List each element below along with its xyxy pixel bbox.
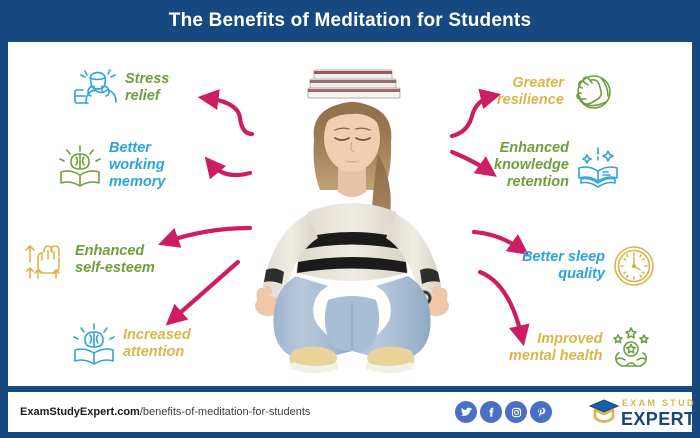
benefit-improved-mental-health[interactable]: Improved mental health bbox=[509, 326, 653, 370]
benefit-label: Better sleep quality bbox=[522, 249, 605, 283]
stressed-person-laptop-icon bbox=[74, 66, 118, 110]
facebook-icon[interactable] bbox=[480, 401, 502, 423]
sneaker-left bbox=[289, 346, 338, 373]
footer-url-path: /benefits-of-meditation-for-students bbox=[140, 406, 311, 418]
twitter-icon[interactable] bbox=[455, 401, 477, 423]
hand-gripping-ball-icon bbox=[571, 70, 615, 114]
books-stack bbox=[308, 70, 400, 98]
benefit-better-sleep-quality[interactable]: Better sleep quality bbox=[522, 244, 656, 288]
meditating-student-photo bbox=[252, 62, 452, 380]
instagram-icon[interactable] bbox=[505, 401, 527, 423]
benefit-enhanced-knowledge-retention[interactable]: Enhanced knowledge retention bbox=[494, 140, 620, 191]
benefit-label: Better working memory bbox=[109, 140, 165, 191]
footer-bar: ExamStudyExpert.com/benefits-of-meditati… bbox=[8, 392, 692, 432]
header-bar: The Benefits of Meditation for Students bbox=[0, 0, 700, 42]
logo-line1: EXAM STUDY bbox=[622, 398, 696, 408]
benefit-better-working-memory[interactable]: Better working memory bbox=[58, 140, 165, 191]
brain-book-icon bbox=[72, 322, 116, 366]
logo-line2: EXPERT bbox=[621, 409, 695, 429]
open-book-sparkles-icon bbox=[576, 144, 620, 188]
benefit-increased-attention[interactable]: Increased attention bbox=[72, 322, 191, 366]
benefit-label: Enhanced knowledge retention bbox=[494, 140, 569, 191]
page-title: The Benefits of Meditation for Students bbox=[169, 10, 531, 32]
benefit-greater-resilience[interactable]: Greater resilience bbox=[497, 70, 615, 114]
footer-url-domain: ExamStudyExpert.com bbox=[20, 406, 140, 418]
footer-url[interactable]: ExamStudyExpert.com/benefits-of-meditati… bbox=[20, 406, 310, 418]
infographic-root: The Benefits of Meditation for Students bbox=[0, 0, 700, 438]
social-links bbox=[455, 401, 552, 423]
brain-book-icon bbox=[58, 144, 102, 188]
benefit-label: Increased attention bbox=[123, 327, 191, 361]
clock-icon bbox=[612, 244, 656, 288]
graduation-cap-icon bbox=[590, 400, 618, 422]
sneaker-right bbox=[366, 346, 415, 373]
benefit-label: Stress relief bbox=[125, 71, 169, 105]
raised-fist-arrows-icon bbox=[24, 238, 68, 282]
benefit-stress-relief[interactable]: Stress relief bbox=[74, 66, 169, 110]
benefit-enhanced-self-esteem[interactable]: Enhanced self-esteem bbox=[24, 238, 155, 282]
benefit-label: Greater resilience bbox=[497, 75, 564, 109]
pinterest-icon[interactable] bbox=[530, 401, 552, 423]
benefit-label: Improved mental health bbox=[509, 331, 602, 365]
hands-star-medal-icon bbox=[609, 326, 653, 370]
benefit-label: Enhanced self-esteem bbox=[75, 243, 155, 277]
exam-study-expert-logo[interactable]: EXAM STUDY EXPERT bbox=[586, 394, 696, 430]
